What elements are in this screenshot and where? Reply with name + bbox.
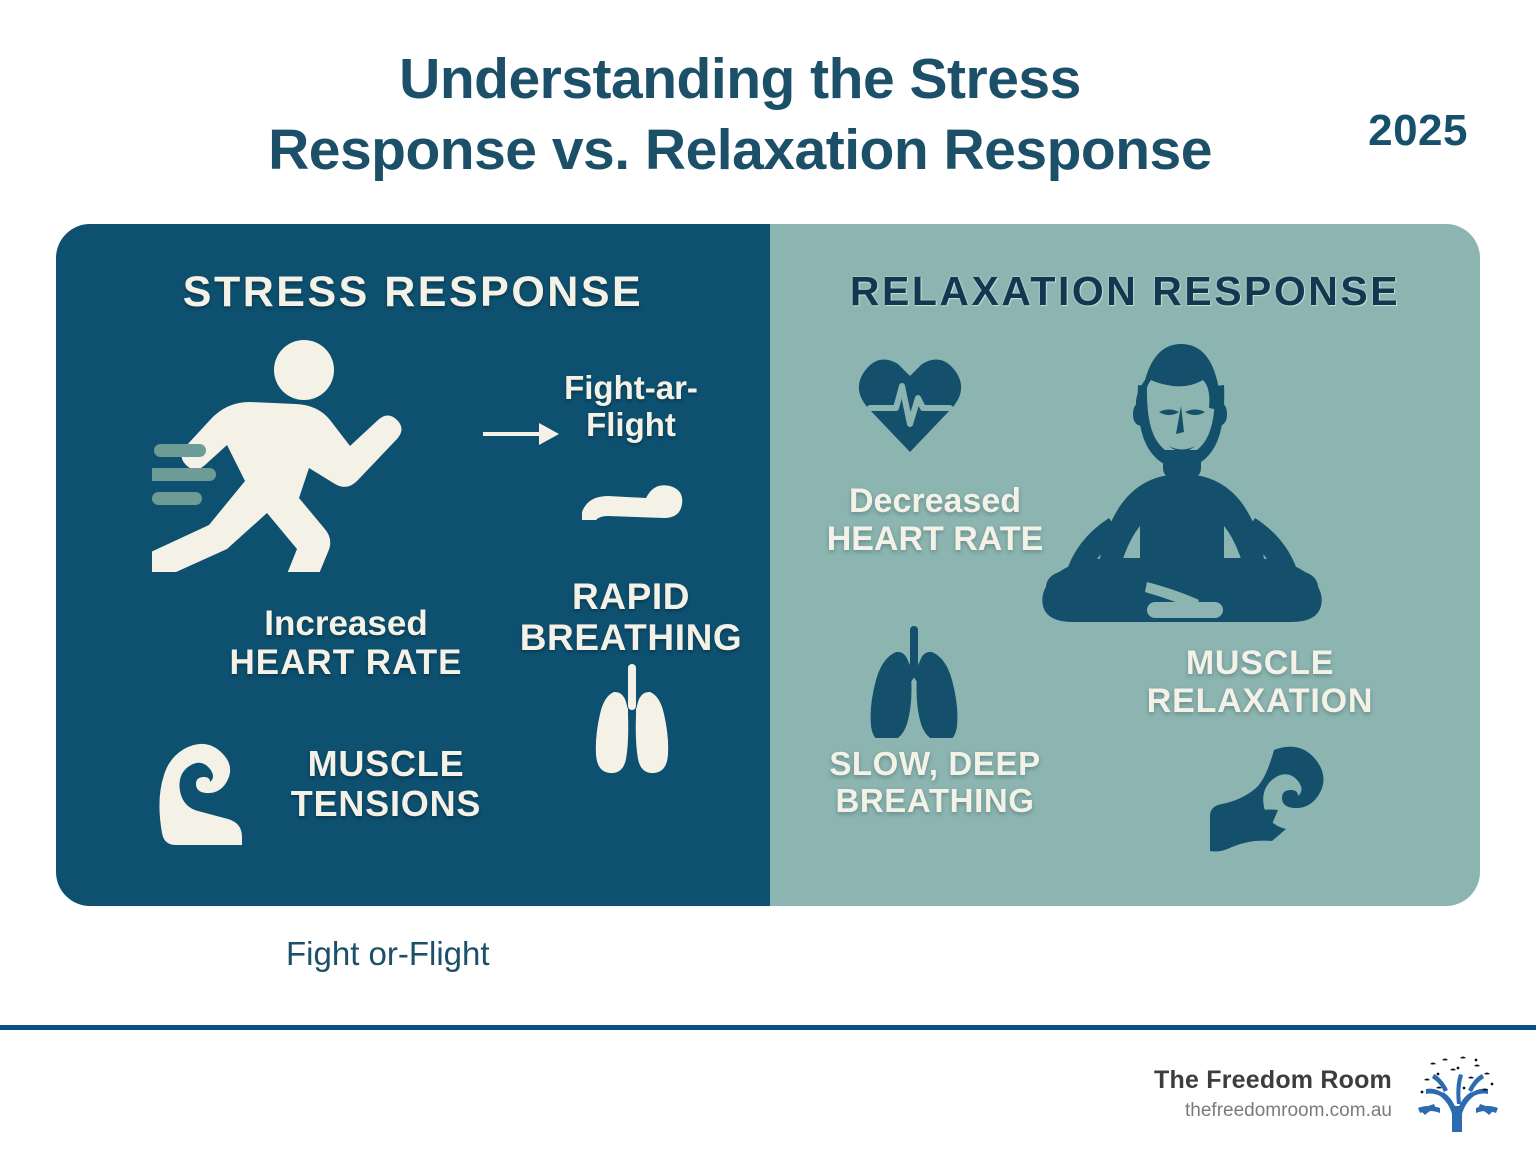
year-label: 2025 [1368,106,1468,156]
heart-rate-line-2: HEART RATE [186,643,506,682]
muscle-tensions-line-1: MUSCLE [236,744,536,784]
flexed-bicep-icon [1210,744,1330,856]
muscle-tensions-label: MUSCLE TENSIONS [236,744,536,825]
brand-url: thefreedomroom.com.au [1154,1100,1392,1122]
increased-heart-rate-label: Increased HEART RATE [186,604,506,682]
panel-stress-response: STRESS RESPONSE Fight-ar- Flight [56,224,770,906]
muscle-relaxation-label: MUSCLE RELAXATION [1110,644,1410,720]
page-title-line-2: Response vs. Relaxation Response [150,115,1330,186]
blob-shape-icon [576,472,686,520]
slow-breathing-line-1: SLOW, DEEP [790,746,1080,783]
rapid-breathing-line-2: BREATHING [486,617,776,658]
fight-or-flight-label: Fight-ar- Flight [516,370,746,444]
muscle-tensions-line-2: TENSIONS [236,784,536,824]
slow-breathing-line-2: BREATHING [790,783,1080,820]
panel-relaxation-response: RELAXATION RESPONSE Decreased HEART RATE [770,224,1480,906]
muscle-relaxation-line-2: RELAXATION [1110,682,1410,720]
stress-response-heading: STRESS RESPONSE [56,268,770,317]
footer-text: The Freedom Room thefreedomroom.com.au [1154,1066,1392,1122]
rapid-breathing-label: RAPID BREATHING [486,576,776,659]
page-title-line-1: Understanding the Stress [150,44,1330,115]
tree-with-birds-logo [1414,1054,1500,1134]
brand-name: The Freedom Room [1154,1066,1392,1095]
lungs-icon [856,626,972,738]
heart-rate-line-2: HEART RATE [800,520,1070,558]
heart-rate-line-1: Increased [186,604,506,643]
relaxation-response-heading: RELAXATION RESPONSE [770,268,1480,315]
comparison-panels: STRESS RESPONSE Fight-ar- Flight [56,224,1480,906]
meditating-person-icon [1035,324,1325,624]
fight-or-flight-line-2: Flight [516,407,746,444]
rapid-breathing-line-1: RAPID [486,576,776,617]
muscle-relaxation-line-1: MUSCLE [1110,644,1410,682]
running-person-icon [152,332,402,572]
lungs-icon [580,664,684,774]
footer-divider [0,1025,1536,1030]
caption-text: Fight or-Flight [286,935,490,973]
slow-deep-breathing-label: SLOW, DEEP BREATHING [790,746,1080,820]
header: Understanding the Stress Response vs. Re… [0,44,1536,204]
fight-or-flight-line-1: Fight-ar- [516,370,746,407]
heart-rate-line-1: Decreased [800,482,1070,520]
footer: The Freedom Room thefreedomroom.com.au [1154,1054,1500,1134]
page-title: Understanding the Stress Response vs. Re… [150,44,1330,187]
heart-with-pulse-icon [856,352,964,456]
decreased-heart-rate-label: Decreased HEART RATE [800,482,1070,558]
